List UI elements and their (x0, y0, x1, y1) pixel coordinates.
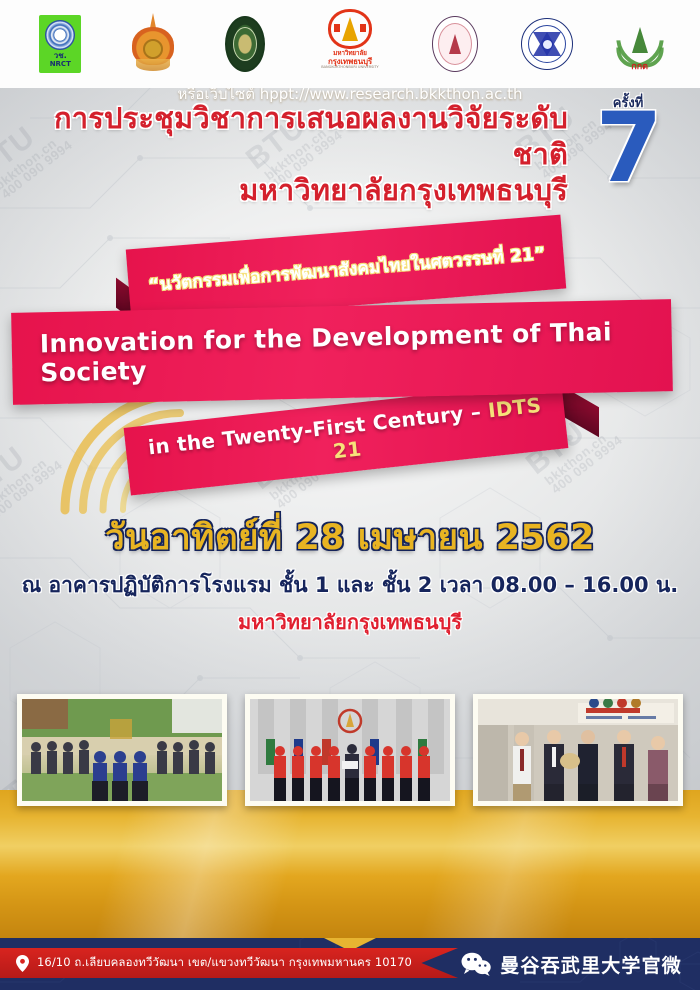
event-details-block: วันอาทิตย์ที่ 28 เมษายน 2562 ณ อาคารปฏิบ… (0, 516, 700, 636)
ribbon-theme-english-2-text: in the Twenty-First Century – IDTS 21 (145, 393, 548, 484)
poster-root: วช. NRCT มหาวิทยาลัย กรุงเทพธนบุรี (0, 0, 700, 990)
photo-outdoor-group (17, 694, 227, 806)
nrct-label-en: NRCT (50, 60, 71, 68)
footer-address-ribbon: 16/10 ถ.เลียบคลองทวีวัฒนา เขต/แขวงทวีวัฒ… (0, 948, 458, 978)
gold-sheen-decoration (0, 790, 700, 938)
seal-inner-icon (233, 27, 257, 61)
medallion-icon (143, 39, 163, 59)
nrct-logo: วช. NRCT (29, 11, 91, 77)
photo-award-ceremony (473, 694, 683, 806)
seal-center-icon (542, 39, 553, 50)
ribbon-theme-thai-text: “นวัตกรรมเพื่อการพัฒนาสังคมไทยในศตวรรษที… (146, 240, 547, 299)
bkkthon-university-logo: มหาวิทยาลัย กรุงเทพธนบุรี BANGKOKTHONBUR… (307, 11, 393, 77)
photo-content (22, 699, 222, 801)
pagoda-icon (449, 34, 461, 54)
btu-name-th: กรุงเทพธนบุรี (328, 58, 372, 65)
footer-bar: 16/10 ถ.เลียบคลองทวีวัฒนา เขต/แขวงทวีวัฒ… (0, 938, 700, 990)
wreath-logo: กกต (609, 11, 671, 77)
headline-line-2: มหาวิทยาลัยกรุงเทพธนบุรี (0, 172, 568, 208)
green-seal-logo (214, 11, 276, 77)
photo-content (478, 699, 678, 801)
btu-ring-icon (328, 9, 372, 49)
nrct-label-th: วช. (54, 51, 67, 60)
wechat-account-name: 曼谷吞武里大学官微 (500, 951, 682, 978)
ribbon-en2-prefix: in the Twenty-First Century – (147, 399, 490, 460)
location-pin-icon (16, 955, 29, 972)
royal-emblem-logo (122, 11, 184, 77)
blue-star-seal-logo (516, 11, 578, 77)
photo-red-uniform-team (245, 694, 455, 806)
btu-name-en: BANGKOKTHONBURI UNIVERSITY (321, 65, 378, 69)
nrct-wheel-icon (45, 20, 75, 50)
footer-address-text: 16/10 ถ.เลียบคลองทวีวัฒนา เขต/แขวงทวีวัฒ… (37, 954, 412, 972)
event-university: มหาวิทยาลัยกรุงเทพธนบุรี (0, 608, 700, 636)
photo-content (250, 699, 450, 801)
contact-gold-band (0, 790, 700, 938)
edition-badge: ครั้งที่ 7 (570, 96, 686, 191)
theme-ribbons: “นวัตกรรมเพื่อการพัฒนาสังคมไทยในศตวรรษที… (0, 218, 700, 488)
event-venue: ณ อาคารปฏิบัติการโรงแรม ชั้น 1 และ ชั้น … (0, 570, 700, 600)
event-date: วันอาทิตย์ที่ 28 เมษายน 2562 (0, 516, 700, 560)
ribbon-theme-english-1-text: Innovation for the Development of Thai S… (39, 317, 644, 388)
emblem-base-icon (136, 59, 170, 71)
edition-number: 7 (570, 105, 686, 191)
pagoda-icon (342, 17, 358, 41)
wreath-label: กกต (631, 59, 648, 73)
wechat-account[interactable]: 曼谷吞武里大学官微 (461, 948, 682, 980)
headline-line-1: การประชุมวิชาการเสนอผลงานวิจัยระดับชาติ (0, 100, 568, 172)
partner-logo-strip: วช. NRCT มหาวิทยาลัย กรุงเทพธนบุรี (0, 0, 700, 88)
pink-seal-logo (424, 11, 486, 77)
photo-gallery (0, 694, 700, 810)
btu-name-prefix: มหาวิทยาลัย (333, 50, 367, 57)
ribbon-theme-english-1: Innovation for the Development of Thai S… (11, 299, 673, 405)
wechat-icon (461, 952, 491, 976)
